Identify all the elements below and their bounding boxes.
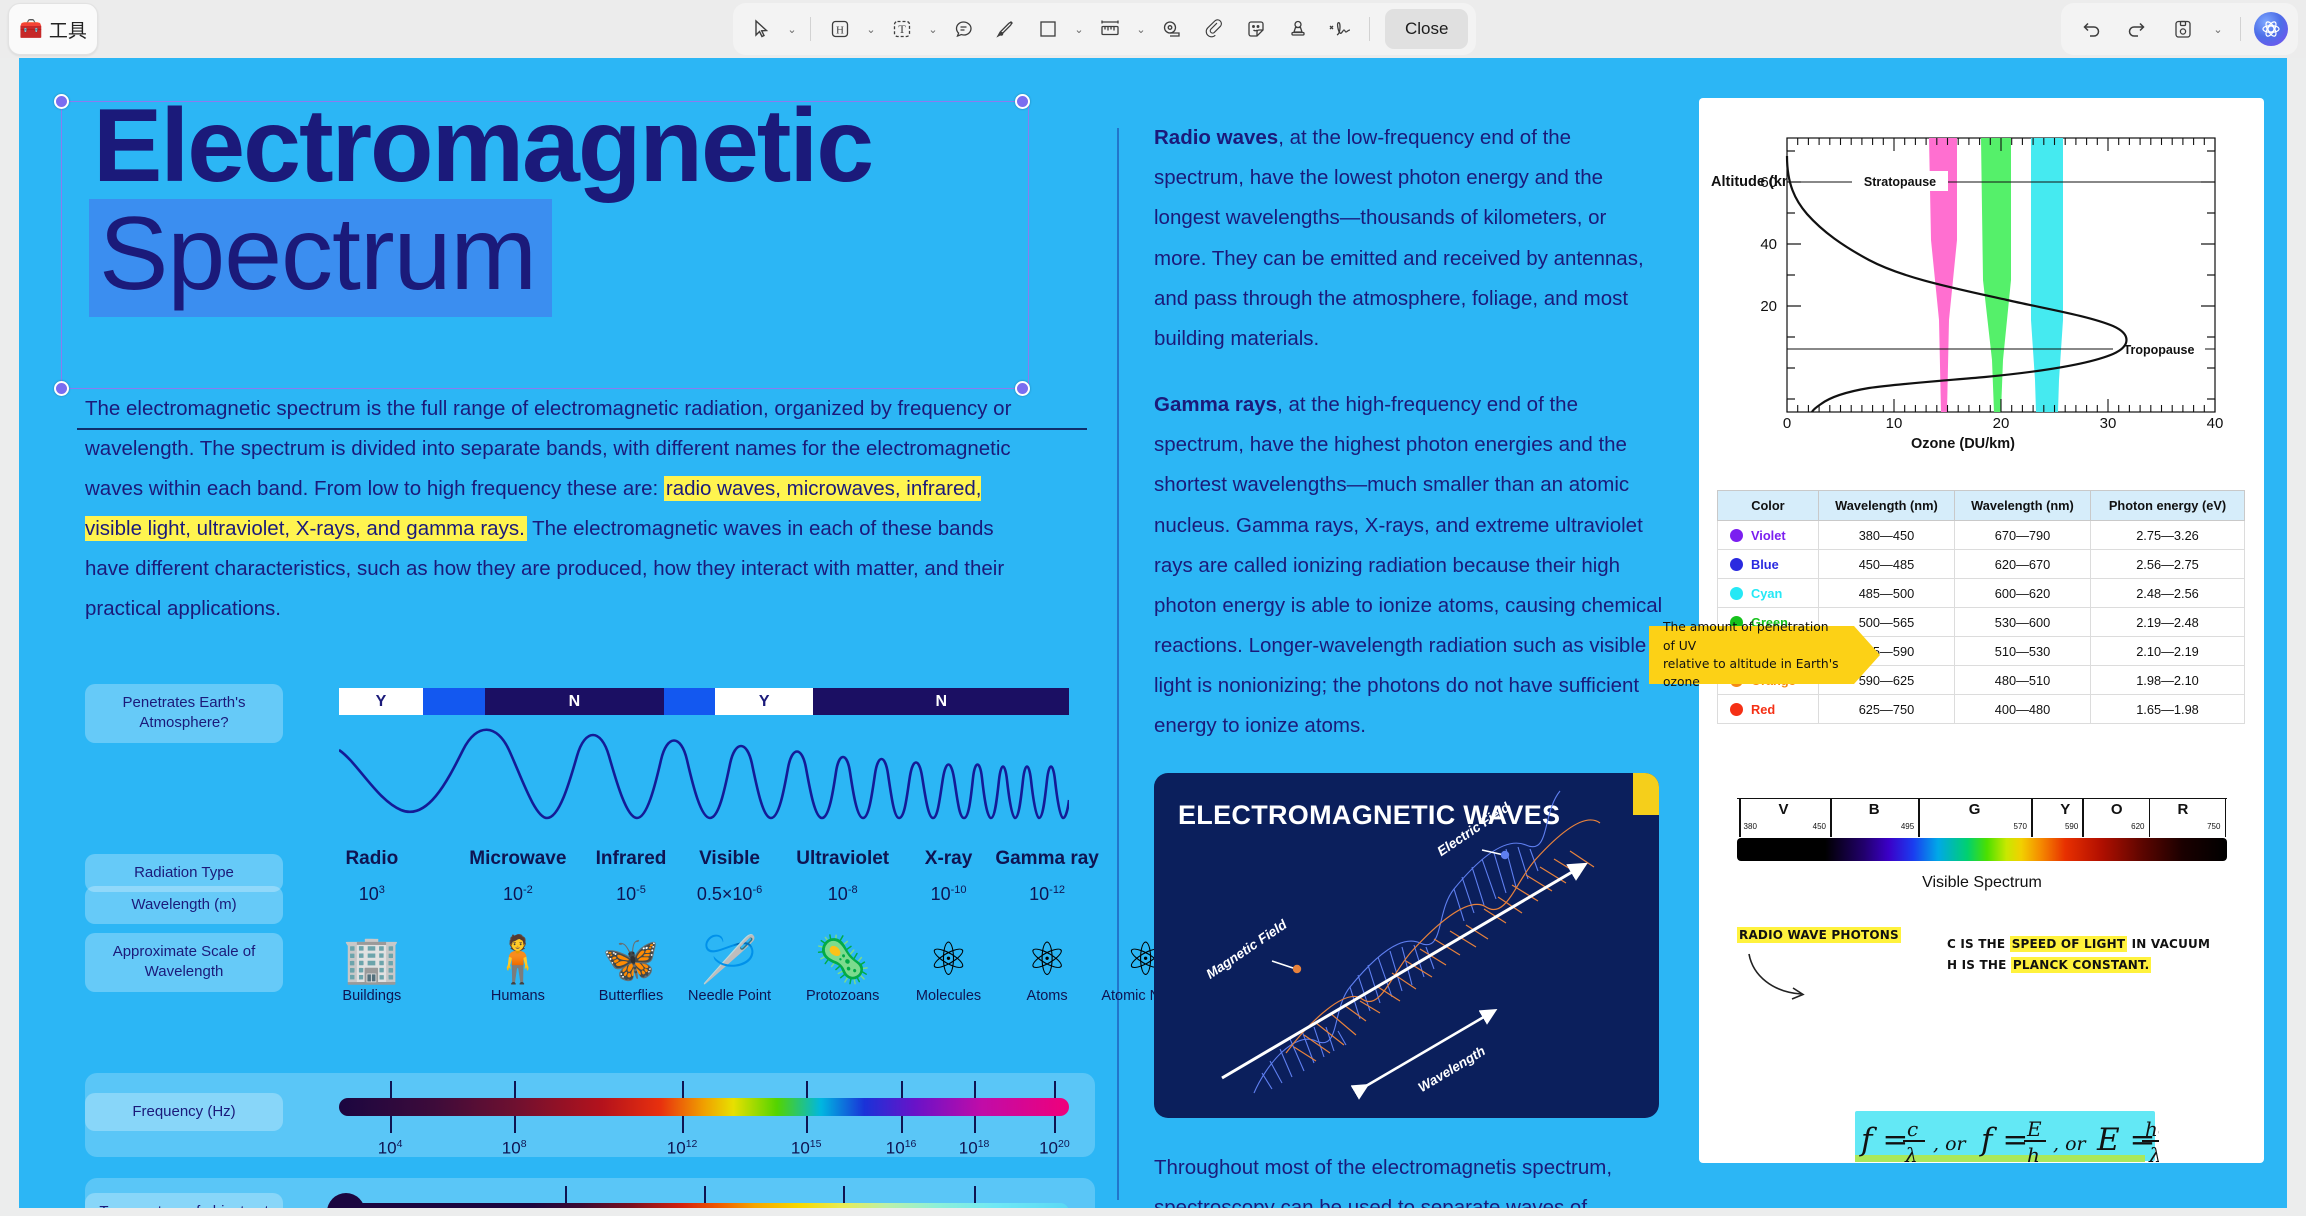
table-row: Violet380—450670—7902.75—3.26 bbox=[1718, 521, 2245, 550]
butterfly-icon: 🦋 bbox=[599, 920, 663, 982]
visible-tick-1 bbox=[1830, 799, 1832, 837]
atmosphere-segment-2: N bbox=[485, 688, 664, 715]
radio-waves-heading: Radio waves bbox=[1154, 126, 1278, 149]
svg-text:, or: , or bbox=[2053, 1133, 2088, 1155]
band-wavelength-1: 10-2 bbox=[503, 884, 533, 905]
label-wavelength: Wavelength (m) bbox=[85, 886, 283, 924]
visible-band-letter-R: R bbox=[2177, 801, 2188, 818]
paragraph-gamma-rays: Gamma rays, at the high-frequency end of… bbox=[1154, 385, 1664, 747]
scale-of-wavelength-row: 🏢Buildings🧍Humans🦋Butterflies🪡Needle Poi… bbox=[339, 920, 1069, 1016]
atom-icon: ⚛ bbox=[1026, 920, 1067, 982]
stratopause-annotation: Stratopause bbox=[1864, 175, 1936, 189]
sticky-note-callout[interactable]: The amount of penetration of UV relative… bbox=[1649, 626, 1854, 684]
signature-tool[interactable] bbox=[1320, 9, 1360, 49]
visible-spectrum-scale: 380450495570590620750VBGYOR bbox=[1737, 798, 2227, 836]
measure-tool[interactable] bbox=[1090, 9, 1130, 49]
row-color-name: Cyan bbox=[1718, 579, 1819, 608]
annotation-c-line: C IS THE SPEED OF LIGHT IN VACUUM bbox=[1947, 934, 2210, 955]
row-wavelength-1: 485—500 bbox=[1818, 579, 1954, 608]
row-photon-energy: 2.56—2.75 bbox=[2091, 550, 2245, 579]
stamp-tool[interactable] bbox=[1278, 9, 1318, 49]
svg-text:f =: f = bbox=[1979, 1122, 2028, 1158]
top-toolbar: 🧰 工具 ⌄ H ⌄ T ⌄ bbox=[0, 0, 2306, 58]
h-line-prefix: H IS THE bbox=[1947, 958, 2011, 972]
band-wavelength-6: 10-12 bbox=[1029, 884, 1065, 905]
band-name-3: Visible bbox=[699, 848, 760, 870]
visible-band-letter-O: O bbox=[2111, 801, 2123, 818]
wave-graphic bbox=[339, 722, 1069, 842]
em-waves-illustration-card: ELECTROMAGNETIC WAVES bbox=[1154, 773, 1659, 1118]
visible-spectrum-block: 380450495570590620750VBGYOR Visible Spec… bbox=[1737, 798, 2227, 892]
wavelength-row: 10310-210-50.5×10-610-810-1010-12 bbox=[339, 884, 1069, 906]
middle-column: Radio waves, at the low-frequency end of… bbox=[1154, 118, 1664, 1208]
annotation-tool-cluster: ⌄ H ⌄ T ⌄ bbox=[733, 3, 1476, 55]
radio-wave-photons-text: RADIO WAVE PHOTONS bbox=[1737, 927, 1901, 943]
formula-equation: f = c λ , or f = E h , or E = hc λ bbox=[1859, 1108, 2159, 1168]
c-line-suffix: IN VACUUM bbox=[2127, 937, 2210, 951]
frequency-label-4: 1016 bbox=[886, 1138, 917, 1159]
table-row: Red625—750400—4801.65—1.98 bbox=[1718, 695, 2245, 724]
svg-text:E: E bbox=[2026, 1117, 2042, 1141]
save-button[interactable] bbox=[2163, 9, 2203, 49]
gamma-rays-heading: Gamma rays bbox=[1154, 393, 1277, 416]
band-wavelength-5: 10-10 bbox=[931, 884, 967, 905]
row-wavelength-2: 620—670 bbox=[1954, 550, 2090, 579]
table-header-2: Wavelength (nm) bbox=[1954, 491, 2090, 521]
visible-band-letter-G: G bbox=[1969, 801, 1981, 818]
scale-item-label-3: Needle Point bbox=[688, 988, 771, 1004]
undo-button[interactable] bbox=[2071, 9, 2111, 49]
radiation-type-row: RadioMicrowaveInfraredVisibleUltraviolet… bbox=[339, 848, 1069, 872]
row-wavelength-2: 400—480 bbox=[1954, 695, 2090, 724]
scale-item-5: ⚛Molecules bbox=[916, 920, 981, 1004]
svg-text:hc: hc bbox=[2145, 1117, 2159, 1141]
table-header-0: Color bbox=[1718, 491, 1819, 521]
visible-band-letter-Y: Y bbox=[2060, 801, 2070, 818]
label-temperature: Temperature of objects at which this rad… bbox=[85, 1193, 283, 1208]
x-tick-0: 0 bbox=[1783, 415, 1791, 430]
frequency-label-0: 104 bbox=[378, 1138, 403, 1159]
row-photon-energy: 2.19—2.48 bbox=[2091, 608, 2245, 637]
em-waves-diagram: Magnetic Field Electric Field Wavelength bbox=[1154, 773, 1659, 1118]
sticker-tool[interactable] bbox=[1236, 9, 1276, 49]
row-wavelength-1: 380—450 bbox=[1818, 521, 1954, 550]
attachment-tool[interactable] bbox=[1194, 9, 1234, 49]
frequency-tick-labels: 10410810121015101610181020 bbox=[339, 1138, 1069, 1162]
h-line-highlight: PLANCK CONSTANT. bbox=[2011, 957, 2151, 973]
curved-arrow-icon bbox=[1743, 950, 1815, 1006]
needle-icon: 🪡 bbox=[688, 920, 771, 982]
scale-item-3: 🪡Needle Point bbox=[688, 920, 771, 1004]
scale-item-label-5: Molecules bbox=[916, 988, 981, 1004]
row-wavelength-2: 600—620 bbox=[1954, 579, 2090, 608]
color-swatch-icon bbox=[1730, 558, 1743, 571]
table-row: Cyan485—500600—6202.48—2.56 bbox=[1718, 579, 2245, 608]
radio-waves-text: , at the low-frequency end of the spectr… bbox=[1154, 126, 1644, 350]
y-tick-60: 60 bbox=[1760, 174, 1777, 191]
label-frequency: Frequency (Hz) bbox=[85, 1093, 283, 1131]
scale-item-4: 🦠Protozoans bbox=[806, 920, 879, 1004]
app-name-label: 工具 bbox=[49, 16, 87, 43]
band-name-0: Radio bbox=[345, 848, 398, 870]
x-tick-20: 20 bbox=[1993, 415, 2010, 430]
scale-item-label-2: Butterflies bbox=[599, 988, 663, 1004]
page-title-block[interactable]: Electromagnetic Spectrum bbox=[85, 83, 1055, 329]
text-tool[interactable]: T bbox=[882, 9, 922, 49]
atmosphere-segment-4: Y bbox=[715, 688, 814, 715]
table-row: Blue450—485620—6702.56—2.75 bbox=[1718, 550, 2245, 579]
atmosphere-segment-5: N bbox=[813, 688, 1069, 715]
visible-tick-5 bbox=[2149, 799, 2151, 837]
visible-tick-label-3: 570 bbox=[2014, 822, 2027, 831]
frequency-label-3: 1015 bbox=[791, 1138, 822, 1159]
resize-handle-top-right[interactable] bbox=[1015, 94, 1030, 109]
frequency-label-1: 108 bbox=[502, 1138, 527, 1159]
visible-tick-label-2: 495 bbox=[1901, 822, 1914, 831]
atmosphere-segment-1 bbox=[423, 688, 485, 715]
ai-assistant-button[interactable] bbox=[2254, 12, 2288, 46]
visible-tick-4 bbox=[2082, 799, 2084, 837]
band-name-1: Microwave bbox=[469, 848, 566, 870]
pen-tool[interactable] bbox=[986, 9, 1026, 49]
buildings-icon: 🏢 bbox=[342, 920, 401, 982]
toolbar-divider bbox=[1369, 17, 1370, 41]
scale-item-6: ⚛Atoms bbox=[1026, 920, 1067, 1004]
label-penetrates-atmosphere: Penetrates Earth's Atmosphere? bbox=[85, 684, 283, 743]
visible-tick-0 bbox=[1739, 799, 1741, 837]
tropopause-annotation: Tropopause bbox=[2124, 343, 2195, 357]
toolbox-icon: 🧰 bbox=[19, 17, 43, 41]
ozone-altitude-chart: Stratopause Tropopause bbox=[1717, 120, 2245, 430]
gamma-rays-text: , at the high-frequency end of the spect… bbox=[1154, 393, 1662, 737]
frequency-label-5: 1018 bbox=[959, 1138, 990, 1159]
svg-text:c: c bbox=[1907, 1117, 1918, 1141]
frequency-label-2: 1012 bbox=[667, 1138, 698, 1159]
row-photon-energy: 2.10—2.19 bbox=[2091, 637, 2245, 666]
toolbar-divider bbox=[2240, 17, 2241, 41]
temperature-gradient-bar bbox=[339, 1203, 1069, 1208]
svg-text:, or: , or bbox=[1933, 1133, 1968, 1155]
row-photon-energy: 2.75—3.26 bbox=[2091, 521, 2245, 550]
right-toolbar-cluster: ⌄ bbox=[2061, 3, 2298, 55]
atmosphere-segment-3 bbox=[664, 688, 715, 715]
y-tick-40: 40 bbox=[1760, 236, 1777, 253]
redo-button[interactable] bbox=[2117, 9, 2157, 49]
visible-tick-2 bbox=[1918, 799, 1920, 837]
visible-spectrum-gradient-bar bbox=[1737, 838, 2227, 861]
callout-line-2: relative to altitude in Earth's ozone bbox=[1663, 655, 1840, 692]
chart-x-axis-label: Ozone (DU/km) bbox=[1699, 436, 2227, 452]
label-approximate-scale: Approximate Scale of Wavelength bbox=[85, 933, 283, 992]
row-photon-energy: 2.48—2.56 bbox=[2091, 579, 2245, 608]
magnetic-field-label: Magnetic Field bbox=[1203, 916, 1290, 981]
close-button[interactable]: Close bbox=[1385, 9, 1468, 49]
chevron-down-icon[interactable]: ⌄ bbox=[1132, 9, 1150, 49]
band-name-6: Gamma ray bbox=[995, 848, 1099, 870]
y-tick-20: 20 bbox=[1760, 298, 1777, 315]
row-color-name: Violet bbox=[1718, 521, 1819, 550]
page-title-line-1: Electromagnetic bbox=[93, 93, 1055, 199]
x-tick-30: 30 bbox=[2100, 415, 2117, 430]
visible-tick-3 bbox=[2031, 799, 2033, 837]
highlight-text-tool[interactable]: H bbox=[820, 9, 860, 49]
page-title-line-2[interactable]: Spectrum bbox=[89, 199, 552, 317]
chevron-down-icon[interactable]: ⌄ bbox=[924, 9, 942, 49]
resize-handle-top-left[interactable] bbox=[54, 94, 69, 109]
scale-item-label-0: Buildings bbox=[342, 988, 401, 1004]
color-swatch-icon bbox=[1730, 703, 1743, 716]
c-line-prefix: C IS THE bbox=[1947, 937, 2010, 951]
atmosphere-penetration-bar: YNYN bbox=[339, 688, 1069, 715]
scale-item-2: 🦋Butterflies bbox=[599, 920, 663, 1004]
molecule-icon: ⚛ bbox=[916, 920, 981, 982]
row-wavelength-1: 625—750 bbox=[1818, 695, 1954, 724]
scale-item-1: 🧍Humans bbox=[489, 920, 546, 1004]
electric-field-label: Electric Field bbox=[1434, 799, 1513, 859]
row-wavelength-1: 450—485 bbox=[1818, 550, 1954, 579]
callout-line-1: The amount of penetration of UV bbox=[1663, 618, 1840, 655]
row-photon-energy: 1.98—2.10 bbox=[2091, 666, 2245, 695]
atmosphere-segment-0: Y bbox=[339, 688, 423, 715]
visible-tick-label-0: 380 bbox=[1744, 822, 1757, 831]
row-wavelength-2: 530—600 bbox=[1954, 608, 2090, 637]
paragraph-spectroscopy: Throughout most of the electromagnetis s… bbox=[1154, 1148, 1664, 1208]
visible-tick-label-5: 620 bbox=[2131, 822, 2144, 831]
band-name-2: Infrared bbox=[596, 848, 667, 870]
table-header-1: Wavelength (nm) bbox=[1818, 491, 1954, 521]
shape-rectangle-tool[interactable] bbox=[1028, 9, 1068, 49]
band-wavelength-3: 0.5×10-6 bbox=[697, 884, 762, 905]
x-tick-40: 40 bbox=[2207, 415, 2224, 430]
scale-item-label-6: Atoms bbox=[1026, 988, 1067, 1004]
chevron-down-icon[interactable]: ⌄ bbox=[783, 9, 801, 49]
color-swatch-icon bbox=[1730, 587, 1743, 600]
table-header-row: ColorWavelength (nm)Wavelength (nm)Photo… bbox=[1718, 491, 2245, 521]
color-swatch-icon bbox=[1730, 529, 1743, 542]
annotation-radio-wave-photons: RADIO WAVE PHOTONS bbox=[1737, 928, 1901, 942]
scale-item-label-1: Humans bbox=[489, 988, 546, 1004]
x-tick-10: 10 bbox=[1886, 415, 1903, 430]
visible-tick-label-6: 750 bbox=[2207, 822, 2220, 831]
row-wavelength-2: 480—510 bbox=[1954, 666, 2090, 695]
frequency-gradient-bar bbox=[339, 1098, 1069, 1116]
band-name-4: Ultraviolet bbox=[796, 848, 889, 870]
left-column: Electromagnetic Spectrum The electromagn… bbox=[85, 83, 1095, 569]
visible-spectrum-caption: Visible Spectrum bbox=[1737, 874, 2227, 892]
lead-paragraph: The electromagnetic spectrum is the full… bbox=[85, 389, 1025, 629]
svg-text:f =: f = bbox=[1859, 1122, 1908, 1158]
band-wavelength-0: 103 bbox=[359, 884, 385, 905]
annotation-constants: C IS THE SPEED OF LIGHT IN VACUUM H IS T… bbox=[1947, 934, 2210, 976]
row-color-name: Red bbox=[1718, 695, 1819, 724]
svg-text:h: h bbox=[2027, 1143, 2040, 1167]
band-name-5: X-ray bbox=[925, 848, 973, 870]
protozoan-icon: 🦠 bbox=[806, 920, 879, 982]
app-chip[interactable]: 🧰 工具 bbox=[8, 3, 98, 55]
row-color-name: Blue bbox=[1718, 550, 1819, 579]
scale-item-label-4: Protozoans bbox=[806, 988, 879, 1004]
band-wavelength-4: 10-8 bbox=[828, 884, 858, 905]
visible-tick-label-4: 590 bbox=[2065, 822, 2078, 831]
visible-tick-6 bbox=[2225, 799, 2227, 837]
chevron-down-icon[interactable]: ⌄ bbox=[862, 9, 880, 49]
scale-item-0: 🏢Buildings bbox=[342, 920, 401, 1004]
visible-tick-label-1: 450 bbox=[1813, 822, 1826, 831]
comment-tool[interactable] bbox=[944, 9, 984, 49]
toolbar-divider bbox=[810, 17, 811, 41]
frequency-label-6: 1020 bbox=[1039, 1138, 1070, 1159]
column-divider bbox=[1117, 128, 1119, 1200]
document-canvas[interactable]: Electromagnetic Spectrum The electromagn… bbox=[19, 58, 2287, 1208]
row-wavelength-2: 670—790 bbox=[1954, 521, 2090, 550]
visible-band-letter-V: V bbox=[1779, 801, 1789, 818]
chevron-down-icon[interactable]: ⌄ bbox=[1070, 9, 1088, 49]
svg-text:λ: λ bbox=[1904, 1143, 1918, 1167]
band-wavelength-2: 10-5 bbox=[616, 884, 646, 905]
select-tool[interactable] bbox=[741, 9, 781, 49]
chevron-down-icon[interactable]: ⌄ bbox=[2209, 9, 2227, 49]
c-line-highlight: SPEED OF LIGHT bbox=[2010, 936, 2128, 952]
tape-tool[interactable] bbox=[1152, 9, 1192, 49]
humans-icon: 🧍 bbox=[489, 920, 546, 982]
resize-handle-bottom-left[interactable] bbox=[54, 381, 69, 396]
row-photon-energy: 1.65—1.98 bbox=[2091, 695, 2245, 724]
paragraph-radio-waves: Radio waves, at the low-frequency end of… bbox=[1154, 118, 1664, 359]
annotation-h-line: H IS THE PLANCK CONSTANT. bbox=[1947, 955, 2210, 976]
visible-band-letter-B: B bbox=[1869, 801, 1880, 818]
svg-text:H: H bbox=[836, 25, 844, 37]
svg-text:λ: λ bbox=[2148, 1143, 2159, 1167]
table-header-3: Photon energy (eV) bbox=[2091, 491, 2245, 521]
row-wavelength-2: 510—530 bbox=[1954, 637, 2090, 666]
